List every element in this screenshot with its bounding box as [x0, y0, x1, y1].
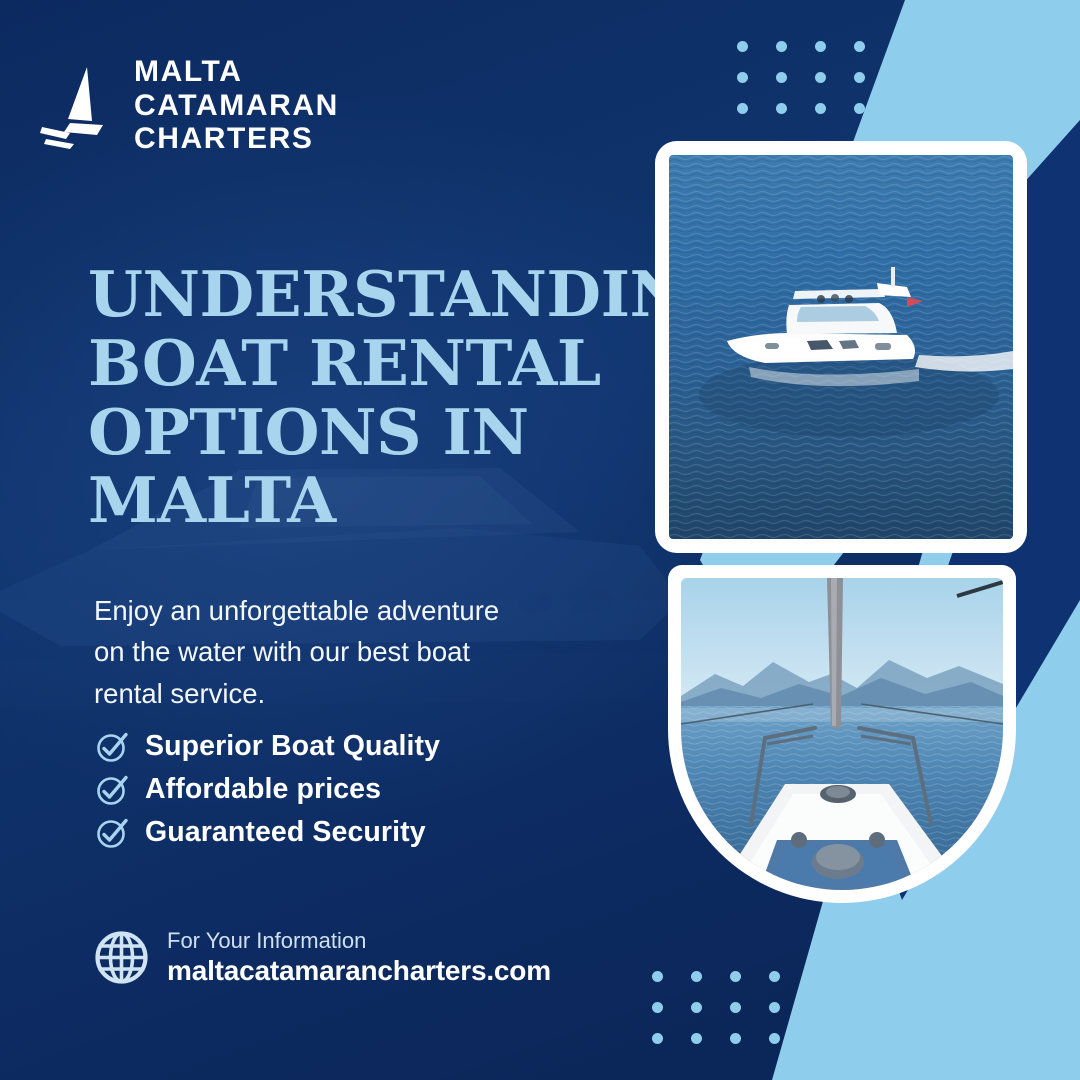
- dot: [737, 72, 748, 83]
- website-url[interactable]: maltacatamarancharters.com: [167, 954, 551, 988]
- dot: [730, 1033, 741, 1044]
- dot: [854, 41, 865, 52]
- feature-label: Superior Boat Quality: [145, 730, 440, 763]
- dot: [737, 103, 748, 114]
- check-circle-icon: [96, 817, 128, 849]
- dot: [815, 41, 826, 52]
- page-title: UNDERSTANDING BOAT RENTAL OPTIONS IN MAL…: [88, 260, 618, 535]
- list-item: Affordable prices: [96, 773, 440, 806]
- dot: [815, 72, 826, 83]
- dot-grid-top: [737, 41, 865, 114]
- dot: [776, 103, 787, 114]
- footer-caption: For Your Information: [167, 928, 551, 954]
- sailboat-bow-photo-card: [668, 565, 1016, 903]
- motor-yacht-photo: [669, 155, 1013, 539]
- dot: [737, 41, 748, 52]
- dot: [652, 1002, 663, 1013]
- globe-icon: [94, 930, 149, 985]
- dot: [769, 1002, 780, 1013]
- dot: [854, 103, 865, 114]
- list-item: Superior Boat Quality: [96, 730, 440, 763]
- check-circle-icon: [96, 774, 128, 806]
- sailboat-bow-photo: [681, 578, 1003, 890]
- feature-list: Superior Boat Quality Affordable prices …: [96, 730, 440, 849]
- dot: [691, 971, 702, 982]
- brand-line-2: CATAMARAN: [134, 89, 339, 123]
- dot: [769, 1033, 780, 1044]
- brand-name: MALTA CATAMARAN CHARTERS: [134, 55, 339, 156]
- dot: [769, 971, 780, 982]
- subtitle-text: Enjoy an unforgettable adventure on the …: [94, 590, 534, 715]
- dot: [652, 971, 663, 982]
- motor-yacht-photo-card: [655, 141, 1027, 553]
- dot: [730, 971, 741, 982]
- dot: [691, 1002, 702, 1013]
- brand-logo: MALTA CATAMARAN CHARTERS: [40, 55, 339, 156]
- list-item: Guaranteed Security: [96, 816, 440, 849]
- dot: [691, 1033, 702, 1044]
- feature-label: Guaranteed Security: [145, 816, 426, 849]
- feature-label: Affordable prices: [145, 773, 381, 806]
- dot: [854, 72, 865, 83]
- dot: [730, 1002, 741, 1013]
- footer-contact: For Your Information maltacatamaranchart…: [94, 928, 551, 988]
- check-circle-icon: [96, 731, 128, 763]
- dot-grid-bottom: [652, 971, 780, 1044]
- sailboat-icon: [40, 59, 118, 151]
- dot: [776, 41, 787, 52]
- dot: [776, 72, 787, 83]
- brand-line-1: MALTA: [134, 55, 339, 89]
- brand-line-3: CHARTERS: [134, 122, 339, 156]
- dot: [652, 1033, 663, 1044]
- footer-text-block: For Your Information maltacatamaranchart…: [167, 928, 551, 988]
- poster-canvas: MALTA CATAMARAN CHARTERS UNDERSTANDING B…: [0, 0, 1080, 1080]
- dot: [815, 103, 826, 114]
